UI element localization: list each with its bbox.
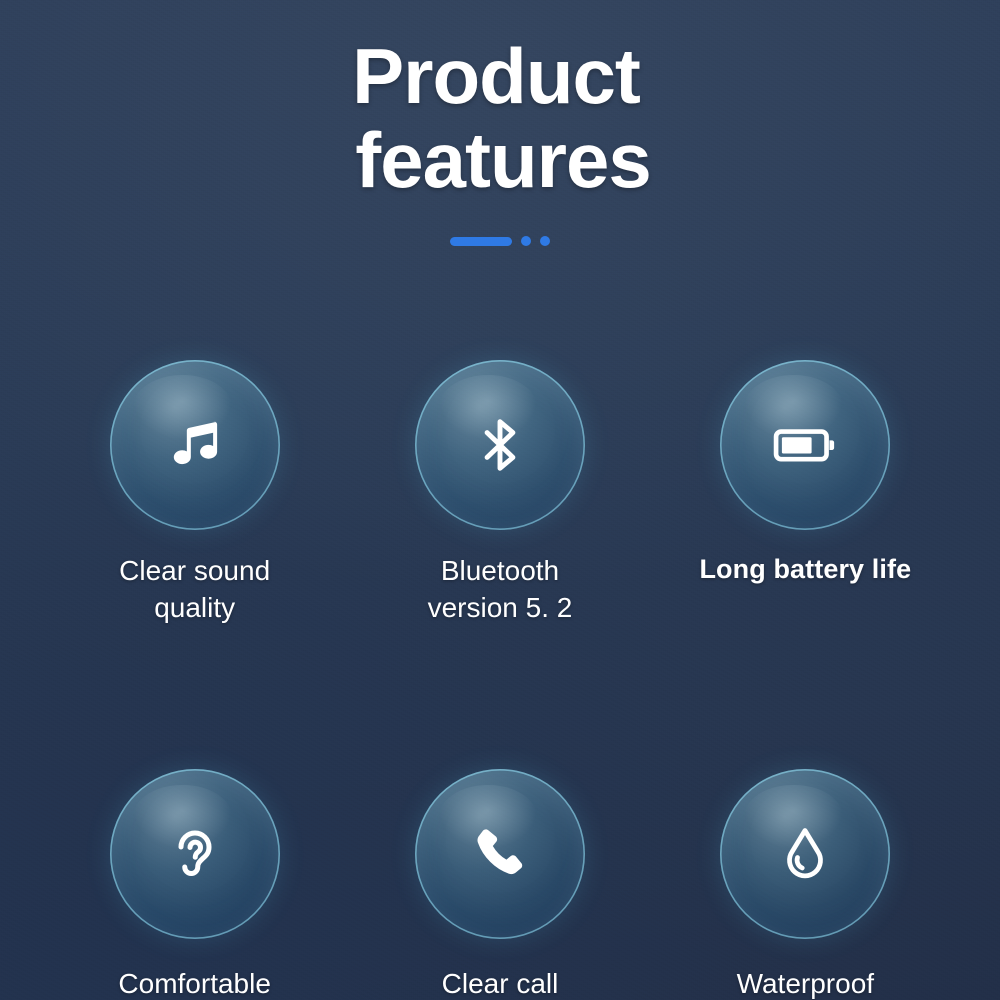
features-grid: Clear sound quality Bluetooth version 5.… xyxy=(0,360,1000,1000)
feature-icon-bubble xyxy=(415,769,585,939)
feature-caption: Comfortable to wear xyxy=(118,965,271,1000)
feature-icon-bubble xyxy=(110,769,280,939)
feature-icon-bubble xyxy=(110,360,280,530)
feature-item-clear-call: Clear call xyxy=(347,769,652,1000)
feature-item-long-battery-life: Long battery life xyxy=(653,360,958,626)
page-title-line-2: features xyxy=(6,118,1000,202)
feature-item-waterproof: Waterproof and sweat proof xyxy=(653,769,958,1000)
phone-handset-icon xyxy=(468,822,532,886)
music-note-icon xyxy=(164,414,226,476)
feature-caption: Clear sound quality xyxy=(119,552,270,626)
feature-icon-bubble xyxy=(720,769,890,939)
header: Product features xyxy=(0,34,1000,246)
bluetooth-icon xyxy=(469,414,531,476)
divider-dot-2 xyxy=(540,236,550,246)
feature-item-comfortable-to-wear: Comfortable to wear xyxy=(42,769,347,1000)
feature-caption: Clear call xyxy=(442,965,559,1000)
feature-caption: Long battery life xyxy=(699,552,911,588)
feature-caption: Waterproof and sweat proof xyxy=(706,965,905,1000)
feature-item-clear-sound-quality: Clear sound quality xyxy=(42,360,347,626)
page-title-line-1: Product xyxy=(0,34,1000,118)
water-drop-icon xyxy=(775,824,835,884)
ear-icon xyxy=(165,824,225,884)
title-divider xyxy=(0,236,1000,246)
divider-bar xyxy=(450,237,512,246)
feature-item-bluetooth-version: Bluetooth version 5. 2 xyxy=(347,360,652,626)
feature-caption: Bluetooth version 5. 2 xyxy=(428,552,573,626)
product-features-poster: Product features Clear sound quality xyxy=(0,0,1000,1000)
feature-icon-bubble xyxy=(415,360,585,530)
battery-icon xyxy=(772,412,838,478)
feature-icon-bubble xyxy=(720,360,890,530)
divider-dot-1 xyxy=(521,236,531,246)
